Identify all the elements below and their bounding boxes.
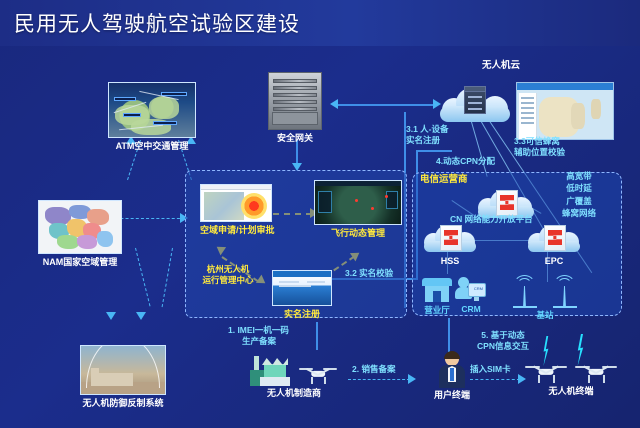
node-nam[interactable]: NAM国家空域管理 [38,200,122,268]
node-hss-label: HSS [424,256,476,267]
annotation-step-3-3-line1: 3.3可信蜂窝 [514,136,565,147]
hangzhou-center-line1: 杭州无人机 [190,264,266,275]
china-map-thumbnail [38,200,122,254]
node-user-terminal[interactable]: 用户终端 [434,352,470,401]
crm-user-icon: CRM [456,277,486,303]
line-cloud-hss [469,115,488,177]
annotation-step-3-1-line1: 3.1 人-设备 [406,124,449,135]
network-feature-4: 蜂窝网络 [548,207,610,219]
dash-manufacturer-user [348,379,410,380]
hangzhou-center-line2: 运行管理中心 [190,275,266,286]
network-feature-1: 高宽带 [548,170,610,182]
node-business-hall[interactable]: 营业厅 [422,278,452,316]
node-atm-label: ATM空中交通管理 [108,141,196,152]
defense-dome-thumbnail [80,345,166,395]
annotation-step-2: 2. 销售备案 [352,364,395,375]
hangzhou-center-label: 杭州无人机 运行管理中心 [190,264,266,287]
antenna-icon-right [552,278,578,308]
annotation-step-1-line1: 1. IMEI一机一码 [228,325,289,336]
user-avatar-icon [437,352,467,388]
connector-gateway-cloud [335,104,435,106]
node-nam-label: NAM国家空域管理 [38,257,122,268]
node-hss[interactable]: HSS [424,222,476,267]
drone-icon-terminal-2 [574,360,618,384]
dash-right-defense [162,248,173,307]
node-drone-terminal[interactable]: 无人机终端 [524,360,618,397]
arrow-cloud-gateway [330,99,338,109]
server-rack-icon [268,72,322,130]
node-defense-label: 无人机防御反制系统 [80,398,166,409]
dash-user-drone [470,379,520,380]
annotation-step-1: 1. IMEI一机一码 生产备案 [228,325,289,348]
annotation-step-5-line2: CPN信息交互 [464,341,542,352]
epc-cloud-icon [528,222,580,252]
network-feature-3: 广覆盖 [548,195,610,207]
cloud-map-panel[interactable] [516,82,614,140]
node-base-station-label: 基站 [512,310,578,321]
node-flight-dynamic-label: 飞行动态管理 [314,228,402,239]
node-airspace-approval[interactable]: 空域申请/计划审批 [200,184,275,236]
annotation-step-3-1: 3.1 人-设备 实名注册 [406,124,449,147]
node-flight-dynamic[interactable]: 飞行动态管理 [314,180,402,239]
atm-radar-thumbnail [108,82,196,138]
connector-hall-user [448,318,450,352]
annotation-step-3-3-line2: 辅助位置校验 [514,147,565,158]
node-epc-label: EPC [528,256,580,267]
airspace-screen-thumbnail [200,184,272,222]
node-gateway-label: 安全网关 [268,133,322,144]
antenna-icon-left [512,278,538,308]
annotation-step-5-line1: 5. 基于动态 [464,330,542,341]
annotation-step-3-1-line2: 实名注册 [406,135,449,146]
registration-screen-thumbnail [272,270,332,306]
annotation-step-4: 4.动态CPN分配 [436,156,495,167]
annotation-step-3-2: 3.2 实名校验 [345,268,393,279]
arrow-to-user [408,374,416,384]
network-feature-2: 低时延 [548,182,610,194]
dash-nam-defense [135,248,150,306]
drone-cloud-icon[interactable] [440,82,512,122]
node-user-terminal-label: 用户终端 [434,390,470,401]
arrow-to-defense-left [106,312,116,320]
node-defense[interactable]: 无人机防御反制系统 [80,345,166,409]
connector-right-to-cloud [416,150,452,152]
infographic-canvas: 民用无人驾驶航空试验区建设 [0,0,640,428]
title-bar: 民用无人驾驶航空试验区建设 [0,0,640,46]
annotation-step-5: 5. 基于动态 CPN信息交互 [464,330,542,353]
drone-cloud-label: 无人机云 [482,60,520,73]
flight-screen-thumbnail [314,180,402,225]
node-gateway[interactable]: 安全网关 [268,72,322,144]
node-real-name-registration-label: 实名注册 [272,309,332,320]
node-atm[interactable]: ATM空中交通管理 [108,82,196,152]
node-airspace-approval-label: 空域申请/计划审批 [200,225,275,236]
drone-icon-manufacturer [298,362,338,386]
annotation-step-3-3: 3.3可信蜂窝 辅助位置校验 [514,136,565,159]
node-crm-label: CRM [456,304,486,315]
node-base-station[interactable]: 基站 [512,278,578,321]
node-epc[interactable]: EPC [528,222,580,267]
cn-cube [496,190,518,216]
arrow-to-defense-right [136,312,146,320]
node-manufacturer[interactable]: 无人机制造商 [250,352,338,399]
node-drone-terminal-label: 无人机终端 [524,386,618,397]
factory-icon [250,352,296,386]
network-features: 高宽带 低时延 广覆盖 蜂窝网络 [548,170,610,219]
page-title: 民用无人驾驶航空试验区建设 [0,8,300,38]
node-crm[interactable]: CRM CRM [456,277,486,315]
connector-center-manufacturer [316,322,318,350]
telecom-operator-label: 电信运营商 [420,174,468,187]
crm-screen-text: CRM [474,286,483,291]
node-real-name-registration[interactable]: 实名注册 [272,270,332,320]
node-manufacturer-label: 无人机制造商 [250,388,338,399]
hss-cloud-icon [424,222,476,252]
node-business-hall-label: 营业厅 [422,305,452,316]
annotation-insert-sim: 插入SIM卡 [470,364,511,375]
storefront-icon [422,278,452,302]
drone-icon-terminal-1 [524,360,568,384]
cloud-server-cube [464,90,486,114]
annotation-step-1-line2: 生产备案 [242,336,289,347]
